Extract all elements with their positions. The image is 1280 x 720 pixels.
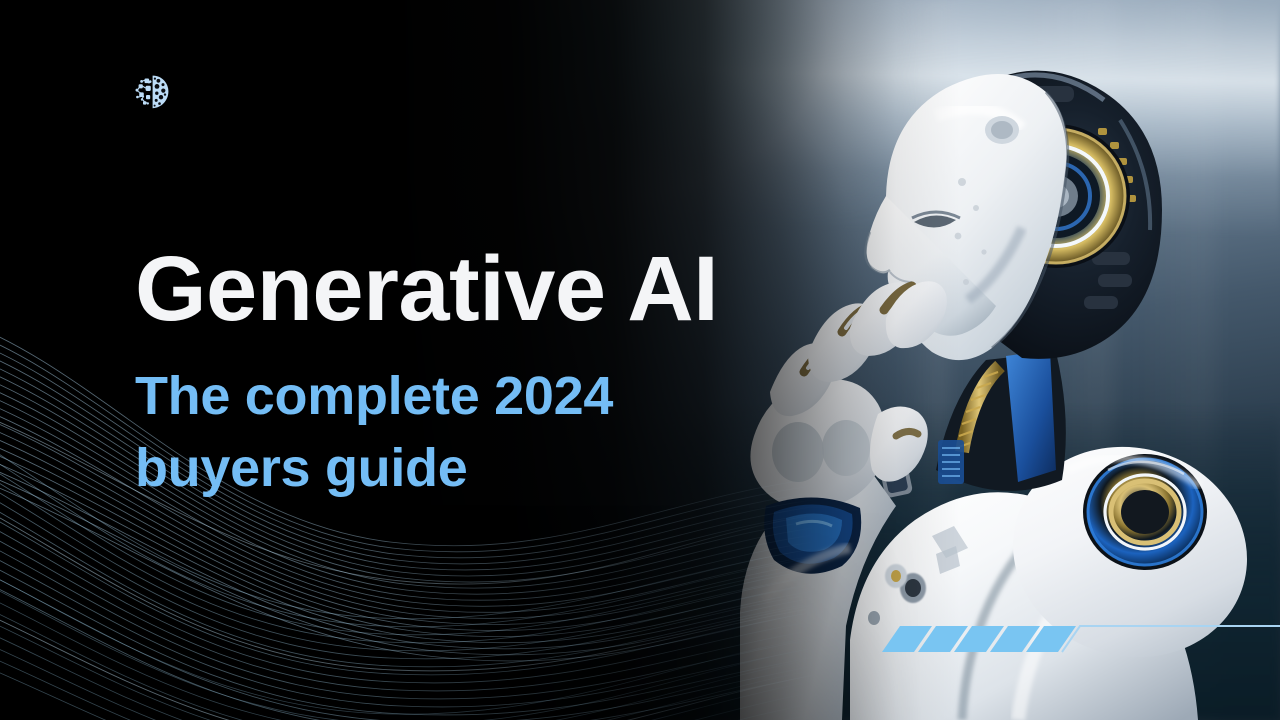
diagonal-slash-accent — [860, 612, 1280, 682]
accent-slash-group — [882, 626, 1076, 652]
page-title: Generative AI — [135, 243, 815, 335]
robot-forearm — [740, 470, 896, 720]
robot-wrist-joint — [764, 497, 861, 573]
robot-ear-module — [982, 124, 1130, 268]
robot-shoulder — [988, 420, 1272, 685]
robot-face — [885, 74, 1067, 360]
brain-circuit-icon — [131, 70, 175, 114]
headline-block: Generative AI The complete 2024 buyers g… — [135, 243, 815, 505]
robot-neck-fin — [1006, 350, 1056, 482]
hero-banner: Generative AI The complete 2024 buyers g… — [0, 0, 1280, 720]
accent-rule-line — [1062, 626, 1280, 652]
brain-left-hemisphere-circuit — [136, 79, 152, 105]
robot-shoulder-joint-ring — [1083, 454, 1207, 570]
robot-neck-mech — [936, 352, 1066, 491]
page-subtitle: The complete 2024 buyers guide — [135, 361, 705, 505]
robot-torso — [850, 492, 1198, 720]
robot-head-mech — [946, 71, 1162, 359]
